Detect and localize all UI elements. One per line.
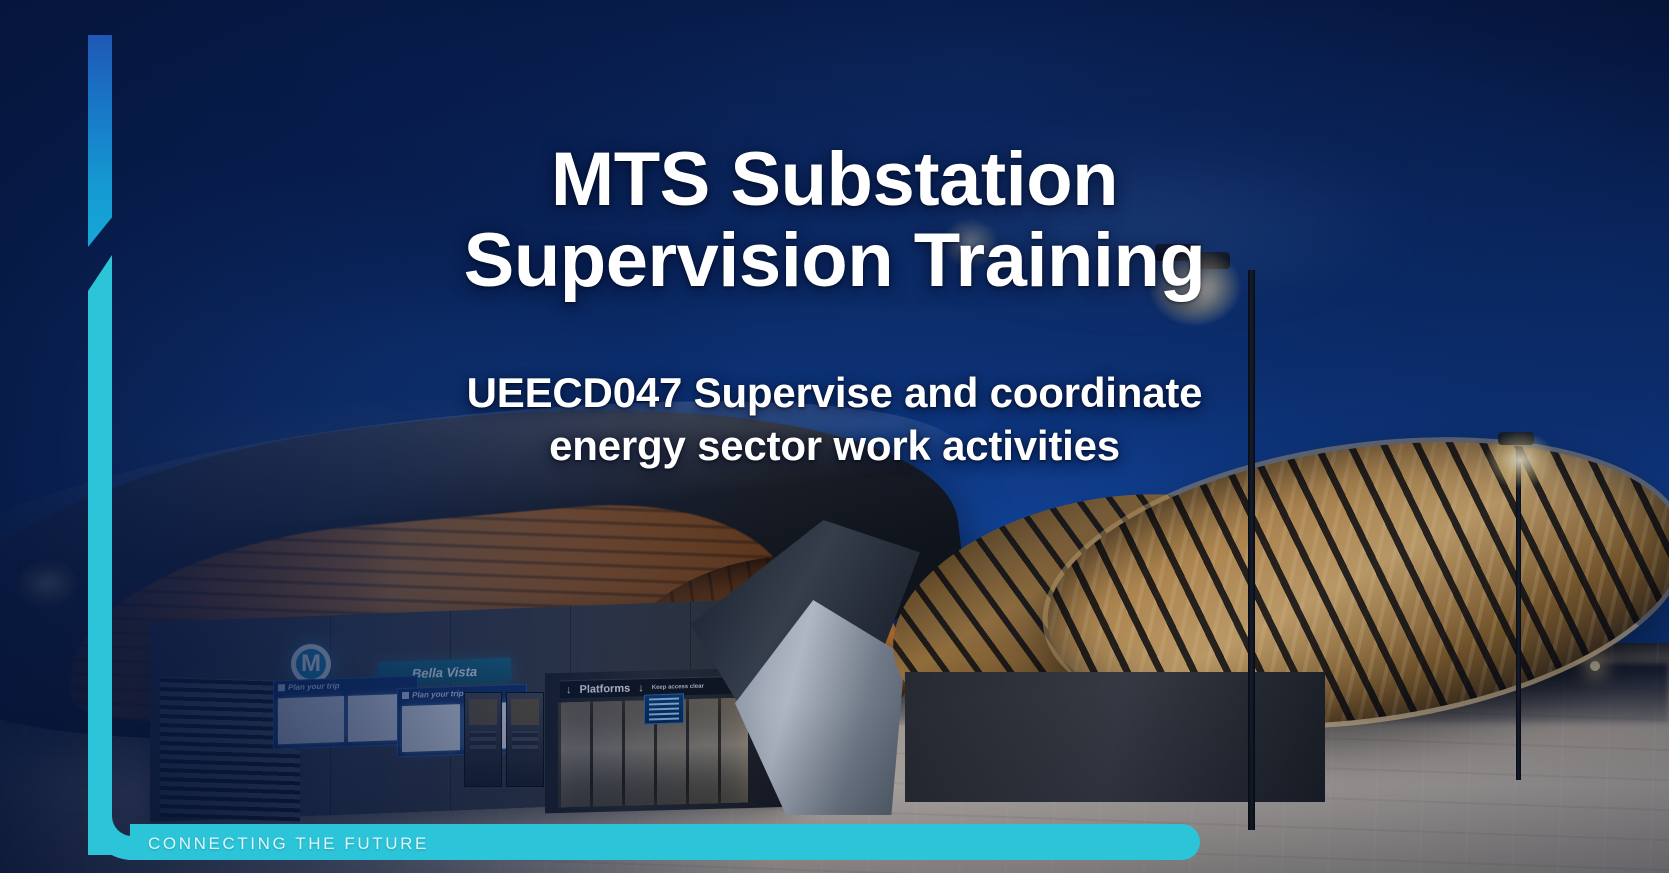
subtitle-line-2: energy sector work activities: [0, 420, 1669, 473]
title-line-2: Supervision Training: [0, 221, 1669, 302]
title-line-1: MTS Substation: [0, 140, 1669, 221]
page-title: MTS Substation Supervision Training: [0, 140, 1669, 301]
subtitle-line-1: UEECD047 Supervise and coordinate: [0, 367, 1669, 420]
title-block: MTS Substation Supervision Training UEEC…: [0, 140, 1669, 472]
presentation-slide: ↓ Platforms ↓ Keep access clear M Bella …: [0, 0, 1669, 873]
tagline-text: CONNECTING THE FUTURE: [148, 834, 429, 854]
page-subtitle: UEECD047 Supervise and coordinate energy…: [0, 367, 1669, 472]
